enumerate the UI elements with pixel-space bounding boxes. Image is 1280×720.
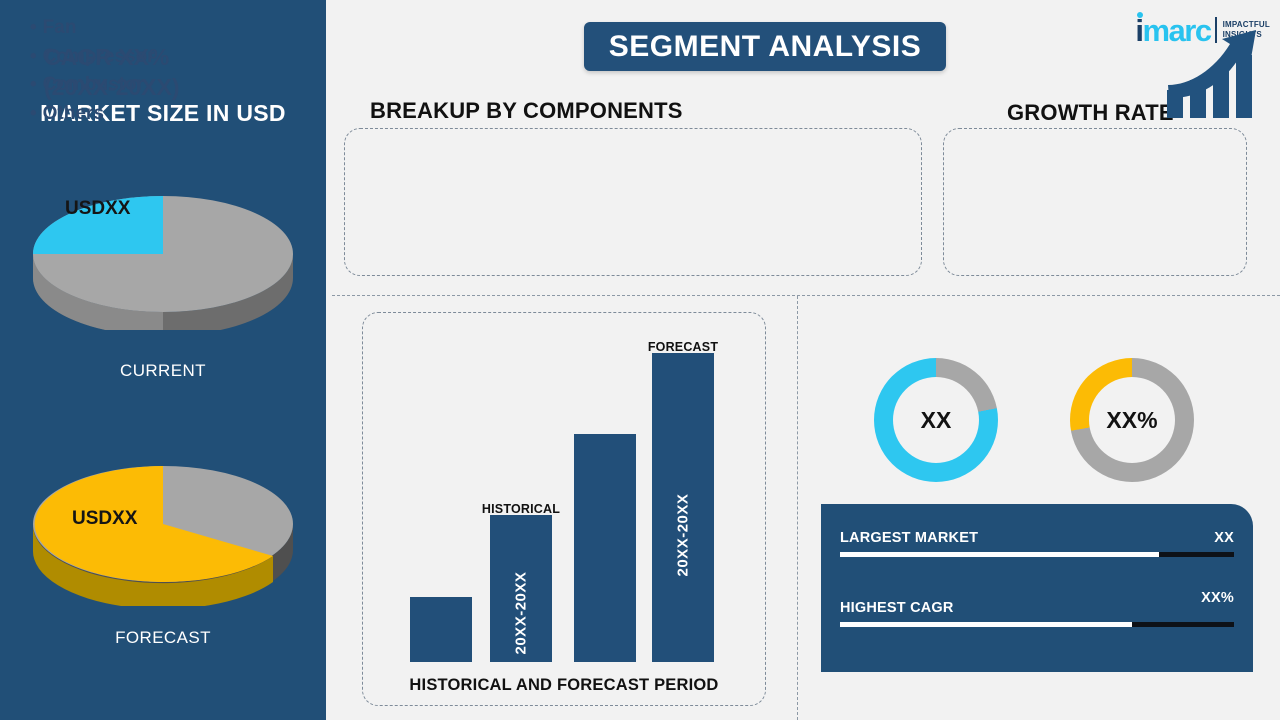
highest-cagr-progress-track <box>840 622 1234 627</box>
current-pie-svg <box>30 170 296 330</box>
cagr-donut-value: XX% <box>1089 377 1175 463</box>
bar-1 <box>410 597 472 662</box>
list-item-label: Others <box>43 103 104 124</box>
cagr-period: (20XX-20XX) <box>44 72 180 102</box>
bar-4: 20XX-20XX <box>652 353 714 662</box>
cagr-value: CAGR XX% <box>44 42 180 72</box>
largest-market-value: XX <box>1214 530 1234 546</box>
largest-market-progress-track <box>840 552 1234 557</box>
historical-forecast-barchart: 20XX-20XX HISTORICAL 20XX-20XX FORECAST <box>362 312 766 706</box>
bar-2: 20XX-20XX <box>490 515 552 662</box>
list-item-label: Fan <box>43 17 77 38</box>
bar-4-period-label: 20XX-20XX <box>675 487 692 577</box>
list-item[interactable]: •Fan <box>30 14 155 43</box>
market-share-donut: XX <box>874 358 998 482</box>
bar-2-annotation: HISTORICAL <box>466 502 576 516</box>
highest-cagr-progress-fill <box>840 622 1132 627</box>
breakup-section-title: BREAKUP BY COMPONENTS <box>370 98 683 124</box>
stats-panel: LARGEST MARKET XX HIGHEST CAGR XX% <box>821 504 1253 672</box>
growth-arrow-bars-icon <box>1166 28 1258 120</box>
bar-4-annotation: FORECAST <box>628 340 738 354</box>
growth-box <box>943 128 1247 276</box>
largest-market-label: LARGEST MARKET <box>840 530 978 546</box>
bullet-icon: • <box>30 103 37 124</box>
forecast-pie-label: USDXX <box>72 508 137 530</box>
bar-3 <box>574 434 636 662</box>
current-pie-caption: CURRENT <box>0 361 326 381</box>
forecast-pie-svg <box>30 440 296 606</box>
vertical-divider <box>797 296 798 720</box>
breakup-box <box>344 128 922 276</box>
bullet-icon: • <box>30 46 37 67</box>
cagr-text: CAGR XX% (20XX-20XX) <box>44 42 180 102</box>
highest-cagr-label: HIGHEST CAGR <box>840 600 954 616</box>
largest-market-progress-fill <box>840 552 1159 557</box>
bullet-icon: • <box>30 17 37 38</box>
page-title: SEGMENT ANALYSIS <box>584 22 946 71</box>
market-share-donut-value: XX <box>893 377 979 463</box>
current-pie-label: USDXX <box>65 198 130 220</box>
forecast-pie-caption: FORECAST <box>0 628 326 648</box>
logo-dot-icon <box>1137 12 1143 18</box>
list-item[interactable]: •Others <box>30 100 155 129</box>
barchart-x-axis-label: HISTORICAL AND FORECAST PERIOD <box>362 676 766 695</box>
horizontal-divider <box>332 295 1280 296</box>
highest-cagr-value: XX% <box>1201 590 1234 606</box>
cagr-donut: XX% <box>1070 358 1194 482</box>
growth-section-title: GROWTH RATE <box>1007 100 1174 126</box>
bullet-icon: • <box>30 74 37 95</box>
bar-2-period-label: 20XX-20XX <box>513 565 530 655</box>
